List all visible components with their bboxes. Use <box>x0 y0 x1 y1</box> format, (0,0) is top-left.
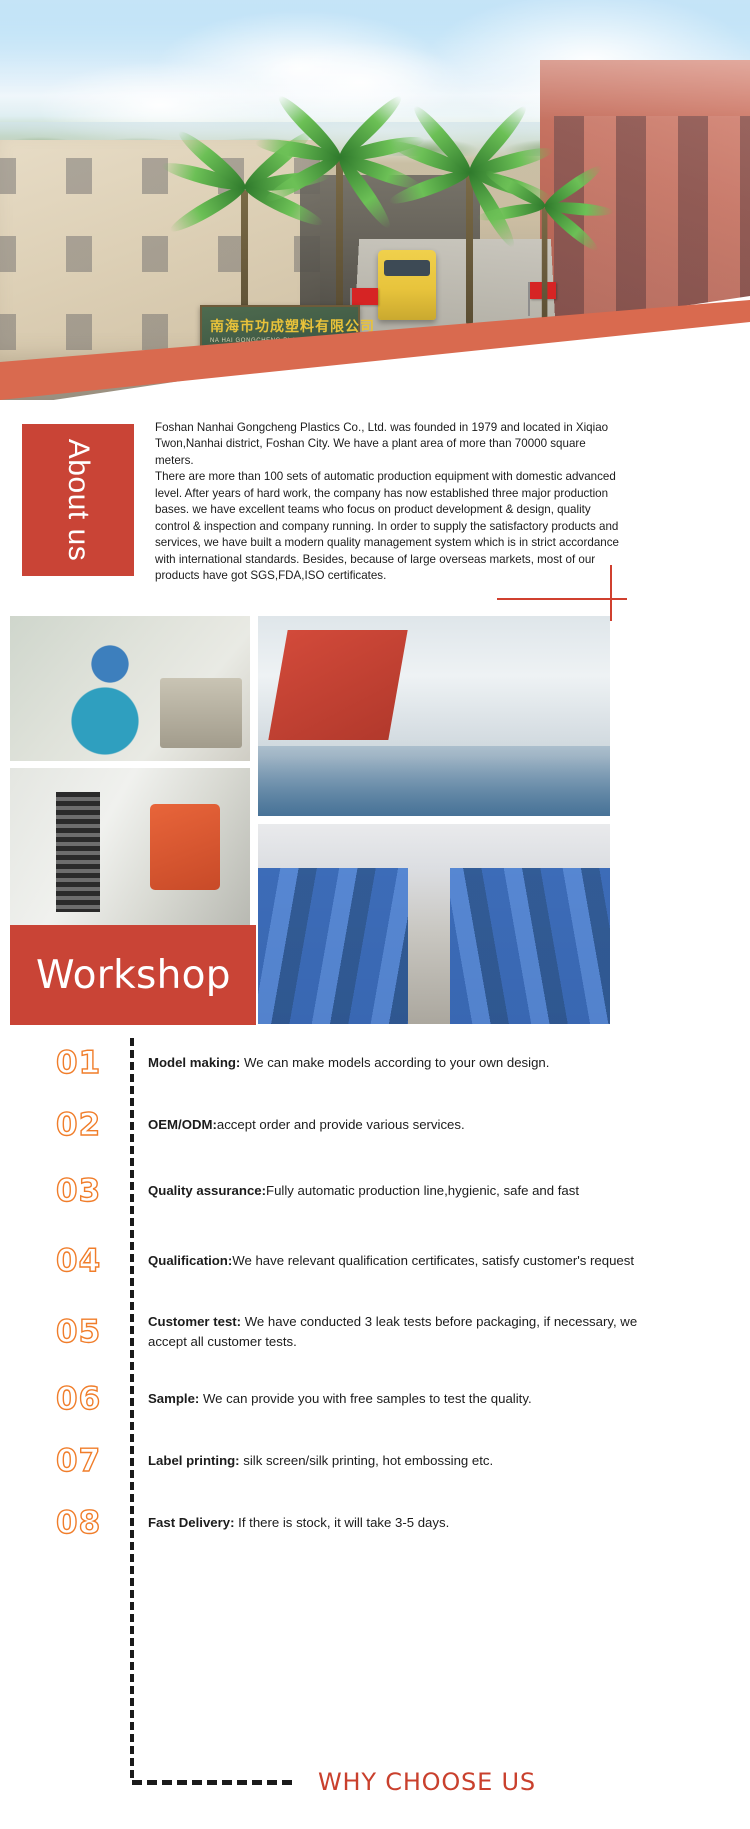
item-text: Model making: We can make models accordi… <box>148 1053 678 1073</box>
item-title: Model making: <box>148 1055 240 1070</box>
item-body: If there is stock, it will take 3-5 days… <box>235 1515 450 1530</box>
list-item: 04 Qualification:We have relevant qualif… <box>40 1226 680 1296</box>
about-section: About us Foshan Nanhai Gongcheng Plastic… <box>0 424 750 594</box>
item-body: silk screen/silk printing, hot embossing… <box>240 1453 494 1468</box>
list-item: 02 OEM/ODM:accept order and provide vari… <box>40 1094 680 1156</box>
item-title: Quality assurance: <box>148 1183 266 1198</box>
signboard-chinese-text: 南海市功成塑料有限公司 <box>210 316 350 336</box>
item-title: OEM/ODM: <box>148 1117 217 1132</box>
workshop-title-banner: Workshop <box>10 925 256 1025</box>
item-text: Customer test: We have conducted 3 leak … <box>148 1312 678 1352</box>
item-number: 08 <box>56 1505 101 1541</box>
item-body: We can make models according to your own… <box>240 1055 549 1070</box>
item-text: Sample: We can provide you with free sam… <box>148 1389 678 1409</box>
injection-machines-photo <box>258 824 610 1024</box>
measuring-equipment-photo <box>10 768 250 931</box>
item-number: 06 <box>56 1381 101 1417</box>
list-item: 03 Quality assurance:Fully automatic pro… <box>40 1156 680 1226</box>
footer-dashed-line <box>132 1780 292 1785</box>
item-body: Fully automatic production line,hygienic… <box>266 1183 579 1198</box>
plus-vertical-line <box>610 565 612 621</box>
item-number: 01 <box>56 1045 101 1081</box>
item-text: Qualification:We have relevant qualifica… <box>148 1251 678 1271</box>
item-number: 07 <box>56 1443 101 1479</box>
item-title: Qualification: <box>148 1253 232 1268</box>
item-number: 04 <box>56 1243 101 1279</box>
item-title: Customer test: <box>148 1314 241 1329</box>
item-title: Label printing: <box>148 1453 240 1468</box>
list-item: 01 Model making: We can make models acco… <box>40 1032 680 1094</box>
lab-inspection-photo <box>10 616 250 761</box>
workshop-title: Workshop <box>10 953 231 998</box>
item-text: Fast Delivery: If there is stock, it wil… <box>148 1513 678 1533</box>
about-us-tab: About us <box>22 424 134 576</box>
item-body: We can provide you with free samples to … <box>199 1391 531 1406</box>
list-item: 06 Sample: We can provide you with free … <box>40 1368 680 1430</box>
list-item: 05 Customer test: We have conducted 3 le… <box>40 1296 680 1368</box>
why-choose-us-label: WHY CHOOSE US <box>318 1768 536 1796</box>
flag-icon <box>352 288 378 305</box>
item-body: accept order and provide various service… <box>217 1117 465 1132</box>
about-us-text: Foshan Nanhai Gongcheng Plastics Co., Lt… <box>155 420 625 585</box>
item-title: Fast Delivery: <box>148 1515 235 1530</box>
delivery-truck <box>378 250 436 320</box>
plus-horizontal-line <box>497 598 627 600</box>
why-choose-us-footer: WHY CHOOSE US <box>0 1770 750 1814</box>
item-text: Label printing: silk screen/silk printin… <box>148 1451 678 1471</box>
list-item: 08 Fast Delivery: If there is stock, it … <box>40 1492 680 1554</box>
plus-decoration-icon <box>497 565 627 621</box>
list-item: 07 Label printing: silk screen/silk prin… <box>40 1430 680 1492</box>
item-number: 05 <box>56 1314 101 1350</box>
item-text: Quality assurance:Fully automatic produc… <box>148 1181 678 1201</box>
clean-workshop-photo <box>258 616 610 816</box>
item-body: We have relevant qualification certifica… <box>232 1253 634 1268</box>
item-title: Sample: <box>148 1391 199 1406</box>
why-choose-us-list: 01 Model making: We can make models acco… <box>0 1032 750 1792</box>
about-paragraph-1: Foshan Nanhai Gongcheng Plastics Co., Lt… <box>155 420 625 469</box>
about-us-label: About us <box>62 439 94 561</box>
item-text: OEM/ODM:accept order and provide various… <box>148 1115 678 1135</box>
item-number: 02 <box>56 1107 101 1143</box>
item-number: 03 <box>56 1173 101 1209</box>
